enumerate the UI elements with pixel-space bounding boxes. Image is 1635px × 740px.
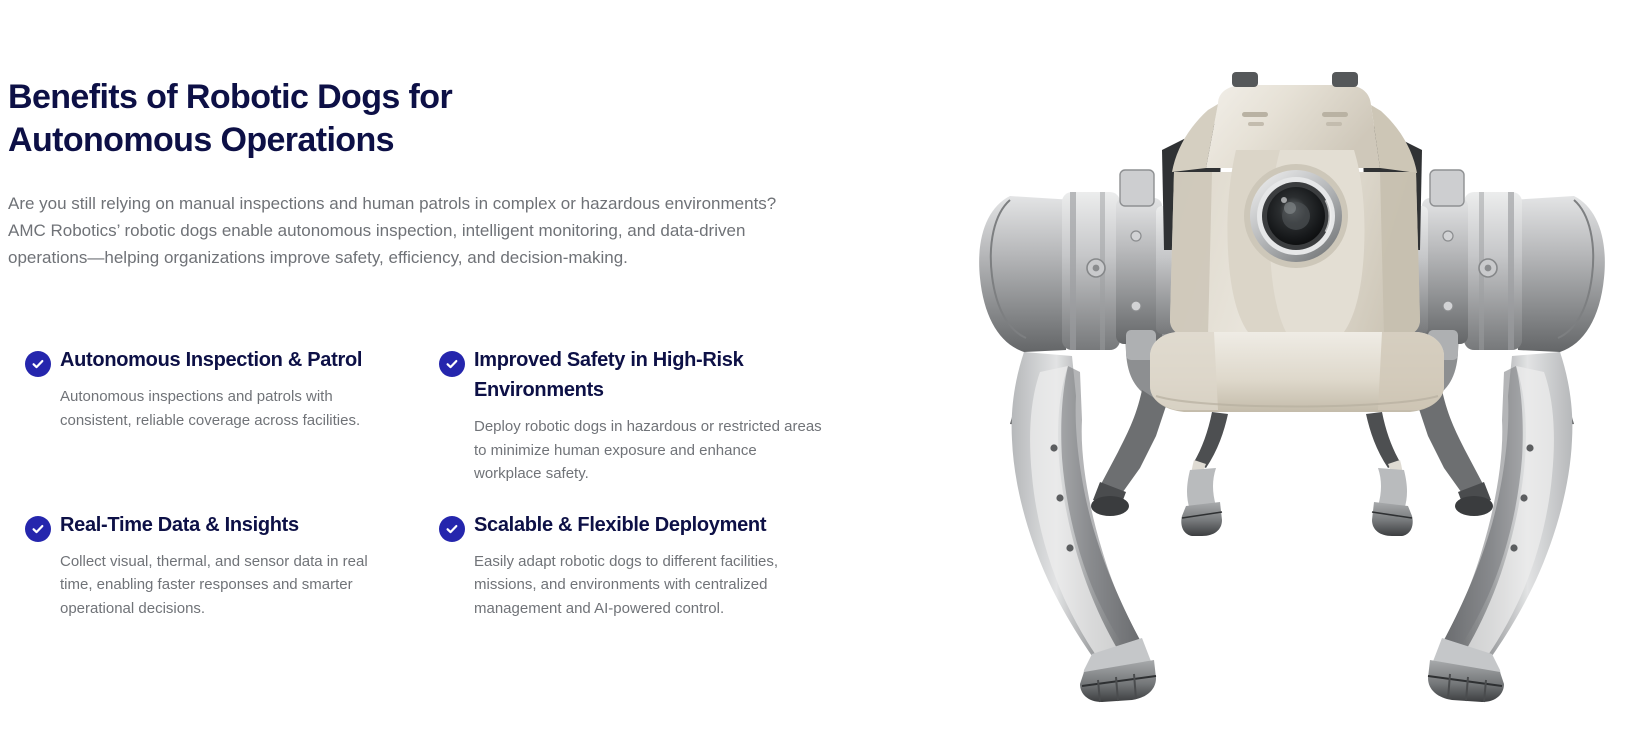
benefit-description: Deploy robotic dogs in hazardous or rest…	[474, 415, 826, 486]
benefit-title: Scalable & Flexible Deployment	[474, 510, 824, 540]
quadruped-robot-dog-photo	[950, 0, 1635, 740]
check-circle-icon	[439, 516, 465, 542]
benefit-title: Real-Time Data & Insights	[60, 510, 422, 540]
page-title: Benefits of Robotic Dogs for Autonomous …	[8, 76, 568, 162]
intro-paragraph-2: AMC Robotics’ robotic dogs enable autono…	[8, 217, 808, 271]
benefit-item-real-time-data: Real-Time Data & Insights Collect visual…	[8, 510, 422, 621]
benefit-title: Autonomous Inspection & Patrol	[60, 345, 422, 375]
benefits-section: Benefits of Robotic Dogs for Autonomous …	[0, 0, 1635, 740]
benefit-title: Improved Safety in High-Risk Environment…	[474, 345, 824, 405]
benefit-description: Autonomous inspections and patrols with …	[60, 385, 380, 432]
intro-paragraph-1: Are you still relying on manual inspecti…	[8, 190, 808, 217]
check-circle-icon	[25, 516, 51, 542]
content-column: Benefits of Robotic Dogs for Autonomous …	[8, 0, 888, 740]
check-circle-icon	[439, 351, 465, 377]
check-circle-icon	[25, 351, 51, 377]
benefit-item-scalable-deployment: Scalable & Flexible Deployment Easily ad…	[422, 510, 836, 621]
page-title-line-2: Autonomous Operations	[8, 121, 394, 159]
benefit-item-autonomous-inspection: Autonomous Inspection & Patrol Autonomou…	[8, 345, 422, 486]
intro-text: Are you still relying on manual inspecti…	[8, 190, 808, 271]
benefits-list: Autonomous Inspection & Patrol Autonomou…	[8, 345, 868, 620]
benefit-description: Easily adapt robotic dogs to different f…	[474, 550, 826, 621]
benefit-item-improved-safety: Improved Safety in High-Risk Environment…	[422, 345, 836, 486]
benefit-description: Collect visual, thermal, and sensor data…	[60, 550, 380, 621]
page-title-line-1: Benefits of Robotic Dogs for	[8, 78, 452, 116]
